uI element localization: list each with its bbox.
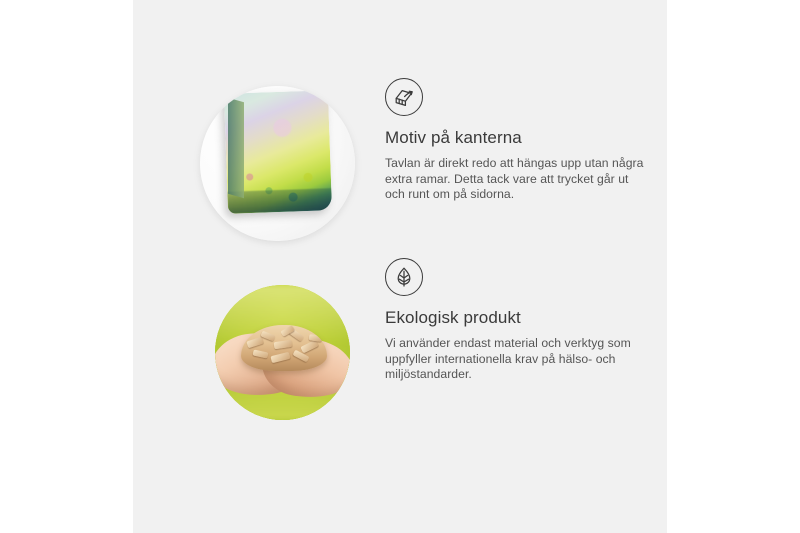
canvas-wrapped-side	[228, 98, 244, 199]
feature-body: Tavlan är direkt redo att hängas upp uta…	[385, 156, 647, 203]
leaf-icon	[385, 258, 423, 296]
feature-body: Vi använder endast material och verktyg …	[385, 336, 647, 383]
feature-heading: Ekologisk produkt	[385, 308, 663, 328]
wood-chips-pile	[241, 325, 327, 371]
feature-info-1: Motiv på kanterna Tavlan är direkt redo …	[385, 78, 663, 203]
cupped-hands	[215, 329, 350, 405]
canvas-corner-photo	[200, 86, 355, 241]
product-feature-page: Motiv på kanterna Tavlan är direkt redo …	[0, 0, 800, 533]
canvas-wrapped-edge-icon	[385, 78, 423, 116]
feature-info-2: Ekologisk produkt Vi använder endast mat…	[385, 258, 663, 383]
feature-heading: Motiv på kanterna	[385, 128, 663, 148]
feature-row-motiv-pa-kanterna: Motiv på kanterna Tavlan är direkt redo …	[133, 78, 667, 258]
content-panel: Motiv på kanterna Tavlan är direkt redo …	[133, 0, 667, 533]
wood-chips-in-hands-photo	[215, 285, 350, 420]
feature-row-ekologisk-produkt: Ekologisk produkt Vi använder endast mat…	[133, 258, 667, 438]
